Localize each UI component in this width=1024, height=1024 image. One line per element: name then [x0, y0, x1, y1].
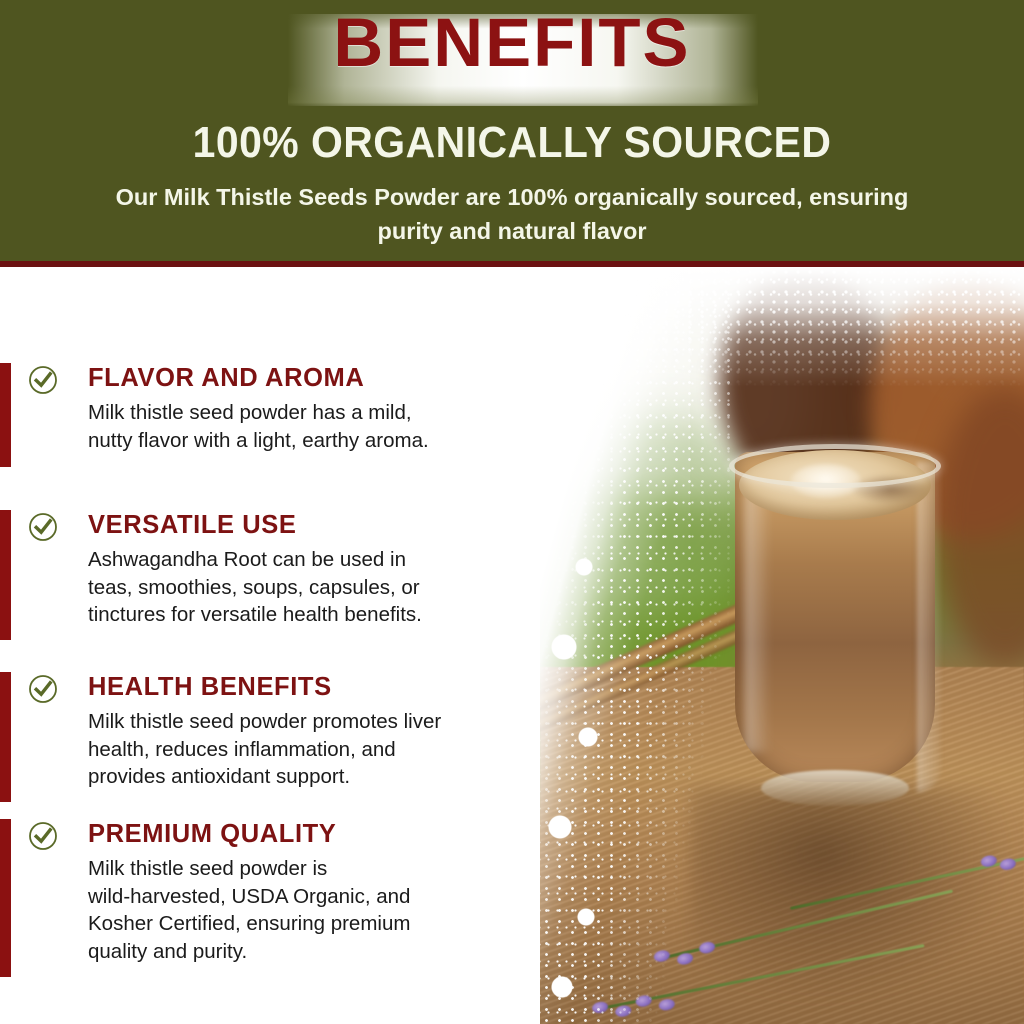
benefit-heading: PREMIUM QUALITY [88, 819, 336, 849]
check-circle-icon [28, 674, 58, 704]
benefit-accent-bar [0, 819, 11, 977]
benefits-list: FLAVOR AND AROMA Milk thistle seed powde… [0, 267, 540, 1024]
benefit-body: Ashwagandha Root can be used in teas, sm… [88, 546, 508, 629]
benefit-body: Milk thistle seed powder promotes liver … [88, 708, 508, 791]
photo-glass-base [761, 770, 909, 806]
benefit-accent-bar [0, 510, 11, 640]
photo-left-speckle-edge [540, 267, 730, 1024]
check-circle-icon [28, 512, 58, 542]
benefit-accent-bar [0, 363, 11, 467]
benefit-heading: HEALTH BENEFITS [88, 672, 332, 702]
product-photo [540, 267, 1024, 1024]
benefits-infographic: BENEFITS 100% ORGANICALLY SOURCED Our Mi… [0, 0, 1024, 1024]
page-title: BENEFITS [0, 7, 1024, 79]
benefit-heading: VERSATILE USE [88, 510, 297, 540]
header-subtitle: 100% ORGANICALLY SOURCED [36, 119, 988, 167]
header-description: Our Milk Thistle Seeds Powder are 100% o… [112, 180, 912, 248]
check-circle-icon [28, 821, 58, 851]
header-banner: BENEFITS 100% ORGANICALLY SOURCED Our Mi… [0, 0, 1024, 261]
benefit-accent-bar [0, 672, 11, 802]
benefit-body: Milk thistle seed powder is wild-harvest… [88, 855, 508, 965]
benefit-heading: FLAVOR AND AROMA [88, 363, 364, 393]
benefit-body: Milk thistle seed powder has a mild, nut… [88, 399, 508, 454]
check-circle-icon [28, 365, 58, 395]
photo-glass-rim [729, 444, 941, 488]
photo-latte-glass [735, 452, 935, 852]
photo-glass-highlight [917, 462, 941, 792]
